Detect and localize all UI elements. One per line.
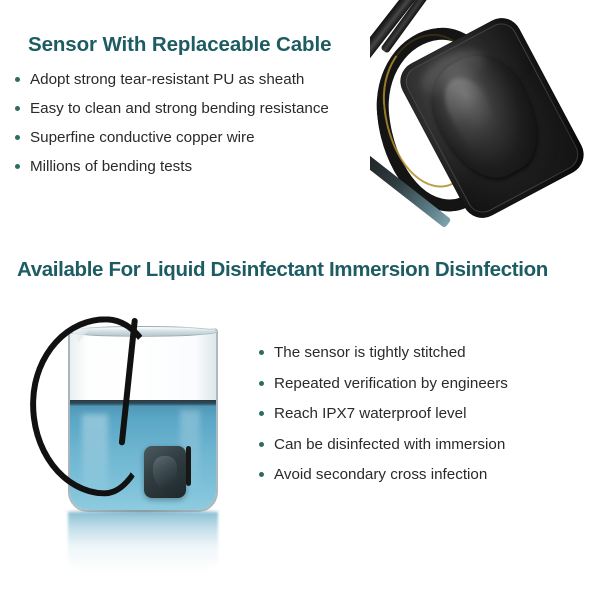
list-item: Repeated verification by engineers xyxy=(258,374,588,393)
cable-submerged-segment-icon xyxy=(186,446,191,486)
list-item-label: Reach IPX7 waterproof level xyxy=(274,405,466,422)
list-item-label: Adopt strong tear-resistant PU as sheath xyxy=(30,71,304,88)
list-item-label: Can be disinfected with immersion xyxy=(274,436,505,453)
bullet-dot-icon xyxy=(15,135,20,140)
bullet-dot-icon xyxy=(15,106,20,111)
list-item: Superfine conductive copper wire xyxy=(14,128,406,147)
section-two-heading: Available For Liquid Disinfectant Immers… xyxy=(17,258,548,282)
list-item-label: Avoid secondary cross infection xyxy=(274,466,487,483)
list-item-label: The sensor is tightly stitched xyxy=(274,344,466,361)
section-two-text-block: The sensor is tightly stitched Repeated … xyxy=(258,343,588,496)
list-item-label: Repeated verification by engineers xyxy=(274,375,508,392)
list-item: The sensor is tightly stitched xyxy=(258,343,588,362)
bullet-dot-icon xyxy=(15,77,20,82)
list-item-label: Easy to clean and strong bending resista… xyxy=(30,100,329,117)
submerged-sensor xyxy=(144,446,186,498)
list-item-label: Superfine conductive copper wire xyxy=(30,129,255,146)
list-item: Reach IPX7 waterproof level xyxy=(258,404,588,423)
beaker-reflection xyxy=(68,512,218,572)
bullet-dot-icon xyxy=(259,472,264,477)
list-item: Millions of bending tests xyxy=(14,157,406,176)
bullet-dot-icon xyxy=(259,442,264,447)
list-item: Avoid secondary cross infection xyxy=(258,465,588,484)
list-item-label: Millions of bending tests xyxy=(30,158,192,175)
section-one-heading: Sensor With Replaceable Cable xyxy=(28,33,406,57)
submerged-sensor-pad xyxy=(153,456,177,490)
list-item: Easy to clean and strong bending resista… xyxy=(14,99,406,118)
list-item: Adopt strong tear-resistant PU as sheath xyxy=(14,70,406,89)
bullet-dot-icon xyxy=(259,350,264,355)
section-one-bullet-list: Adopt strong tear-resistant PU as sheath… xyxy=(14,70,406,176)
section-two-bullet-list: The sensor is tightly stitched Repeated … xyxy=(258,343,588,484)
bullet-dot-icon xyxy=(259,411,264,416)
list-item: Can be disinfected with immersion xyxy=(258,435,588,454)
section-one-text-block: Sensor With Replaceable Cable Adopt stro… xyxy=(14,33,406,186)
beaker-immersion-photo xyxy=(24,300,250,570)
section-sensor-replaceable-cable: Sensor With Replaceable Cable Adopt stro… xyxy=(0,0,600,240)
bullet-dot-icon xyxy=(15,164,20,169)
product-feature-page: Sensor With Replaceable Cable Adopt stro… xyxy=(0,0,600,600)
bullet-dot-icon xyxy=(259,381,264,386)
